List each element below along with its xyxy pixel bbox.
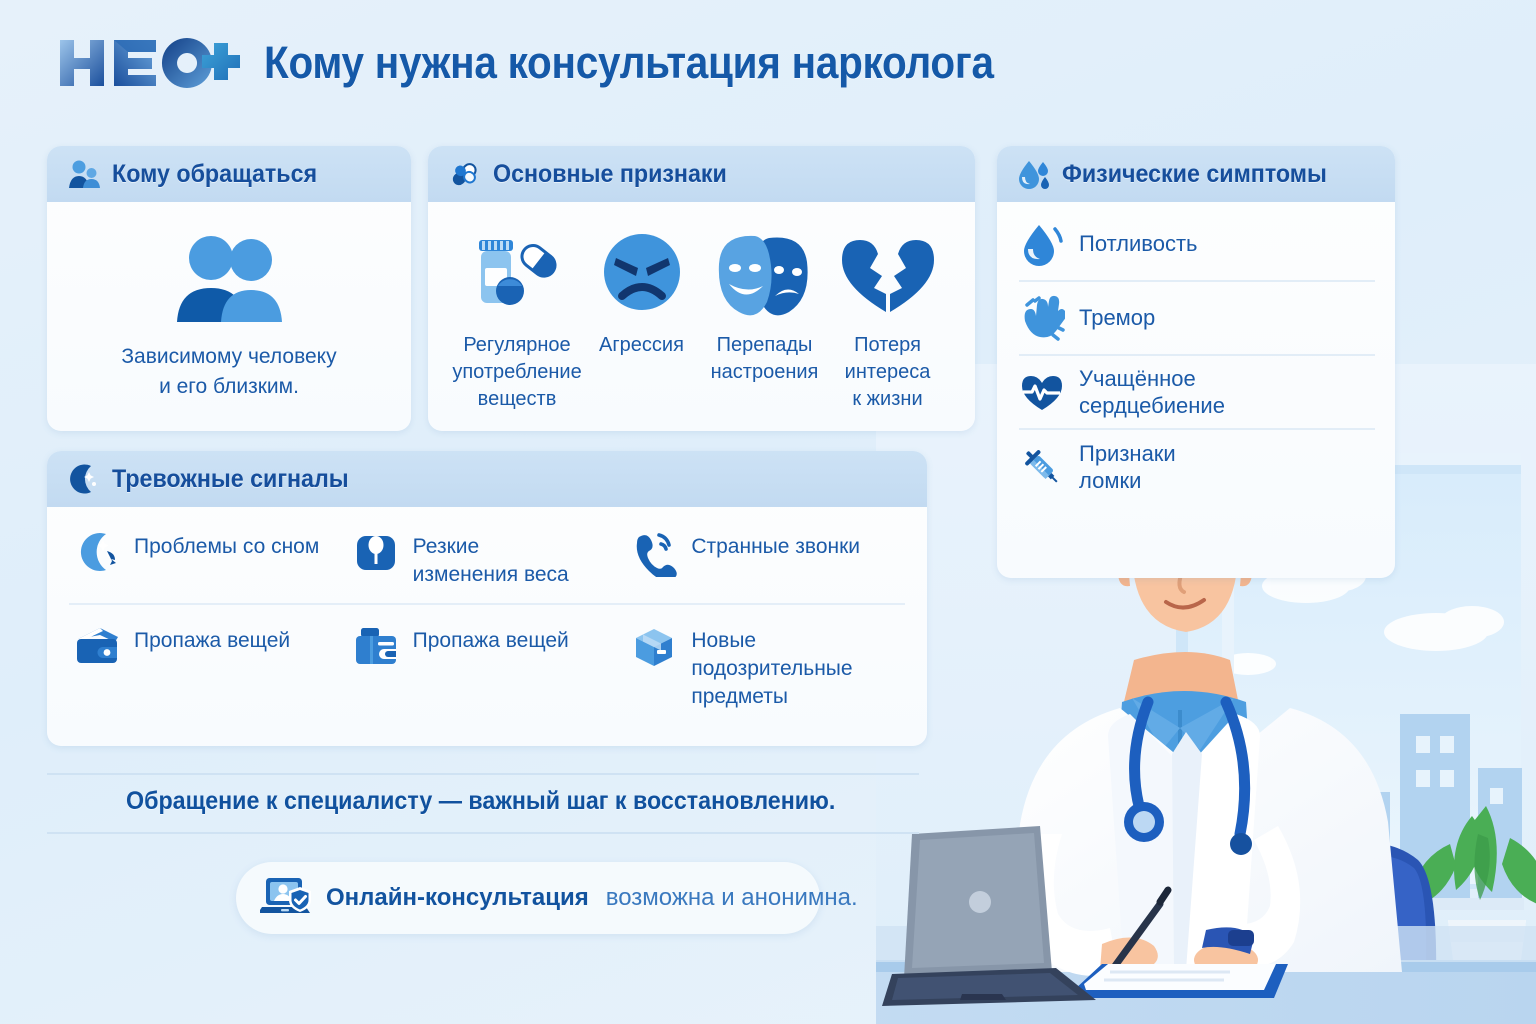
sign-label: Агрессия	[599, 332, 684, 359]
angry-face-icon	[592, 226, 692, 322]
card-physical-symptoms: Физические симптомы Потливость	[997, 146, 1395, 578]
clipboard	[1074, 964, 1288, 998]
sign-label: Перепады настроения	[711, 332, 819, 386]
list-item-label: Потливость	[1079, 230, 1198, 258]
package-box-icon	[630, 623, 678, 671]
card-main-signs: Основные признаки	[428, 146, 975, 431]
card-header: Основные признаки	[428, 146, 975, 202]
laptop-verified-icon	[260, 875, 314, 921]
shaking-hand-icon	[1019, 295, 1065, 341]
alarm-signal-grid: Проблемы со сном Резкие изменения веса	[69, 511, 905, 725]
alarm-label: Пропажа вещей	[134, 621, 290, 655]
card-body: Потливость Тремор	[997, 202, 1395, 514]
list-item: Признаки ломки	[1019, 430, 1375, 504]
sign-item: Потеря интереса к жизни	[826, 226, 949, 412]
card-who-text: Зависимому человеку и его близким.	[121, 342, 336, 402]
sign-item: Перепады настроения	[703, 226, 826, 412]
alarm-item: Новые подозрительные предметы	[626, 605, 905, 725]
card-header: Физические симптомы	[997, 146, 1395, 202]
water-drops-icon	[1017, 157, 1051, 191]
card-title: Основные признаки	[493, 160, 727, 189]
sign-item: Агрессия	[580, 226, 703, 412]
page-header: Кому нужна консультация нарколога	[56, 34, 1075, 92]
heartbeat-icon	[1019, 369, 1065, 415]
alarm-item: Пропажа вещей	[348, 605, 627, 725]
sign-label: Потеря интереса к жизни	[845, 332, 931, 412]
footer-note: Обращение к специалисту — важный шаг к в…	[126, 787, 861, 823]
list-item-label: Учащённое сердцебиение	[1079, 365, 1225, 420]
neo-plus-logo	[56, 34, 246, 92]
sweat-drop-icon	[1019, 221, 1065, 267]
pills-icon	[448, 157, 482, 191]
card-title: Физические симптомы	[1062, 160, 1327, 189]
alarm-item: Пропажа вещей	[69, 605, 348, 725]
card-header: Тревожные сигналы	[47, 451, 927, 507]
card-body: Регулярное употребление веществ Агрессия	[428, 202, 975, 428]
page-title: Кому нужна консультация нарколога	[264, 37, 994, 89]
online-consultation-light: возможна и анонимна.	[606, 884, 858, 912]
alarm-label: Резкие изменения веса	[413, 527, 569, 589]
list-item: Тремор	[1019, 282, 1375, 356]
card-body: Проблемы со сном Резкие изменения веса	[47, 507, 927, 735]
moon-sleep-icon	[73, 529, 121, 577]
pill-bottle-icon	[467, 226, 567, 322]
alarm-item: Резкие изменения веса	[348, 511, 627, 605]
phone-ring-icon	[630, 529, 678, 577]
divider-top	[47, 773, 919, 775]
alarm-item: Проблемы со сном	[69, 511, 348, 605]
syringe-icon	[1019, 444, 1065, 490]
people-pair-icon	[67, 157, 101, 191]
two-persons-icon	[163, 234, 295, 326]
alarm-label: Новые подозрительные предметы	[691, 621, 852, 711]
list-item-label: Признаки ломки	[1079, 440, 1176, 495]
card-who-to-contact: Кому обращаться Зависимому человеку и ег…	[47, 146, 411, 431]
online-consultation-badge: Онлайн-консультация возможна и анонимна.	[236, 862, 820, 934]
sign-label: Регулярное употребление веществ	[452, 332, 581, 412]
physical-symptom-list: Потливость Тремор	[1019, 208, 1375, 504]
online-consultation-strong: Онлайн-консультация	[326, 884, 589, 912]
sign-item: Регулярное употребление веществ	[454, 226, 580, 412]
card-header: Кому обращаться	[47, 146, 411, 202]
list-item: Потливость	[1019, 208, 1375, 282]
card-body: Зависимому человеку и его близким.	[47, 202, 411, 418]
alarm-label: Пропажа вещей	[413, 621, 569, 655]
alarm-label: Проблемы со сном	[134, 527, 319, 561]
broken-heart-icon	[838, 226, 938, 322]
theater-masks-icon	[715, 226, 815, 322]
card-title: Тревожные сигналы	[112, 465, 349, 494]
alarm-item: Странные звонки	[626, 511, 905, 605]
card-title: Кому обращаться	[112, 160, 317, 189]
list-item: Учащённое сердцебиение	[1019, 356, 1375, 430]
card-alarm-signals: Тревожные сигналы Проблемы со сном	[47, 451, 927, 746]
divider-bottom	[47, 832, 919, 834]
list-item-label: Тремор	[1079, 304, 1155, 332]
crescent-moon-icon	[67, 462, 101, 496]
wallet-open-icon	[73, 623, 121, 671]
wallet-closed-icon	[352, 623, 400, 671]
weight-scale-icon	[352, 529, 400, 577]
alarm-label: Странные звонки	[691, 527, 860, 561]
